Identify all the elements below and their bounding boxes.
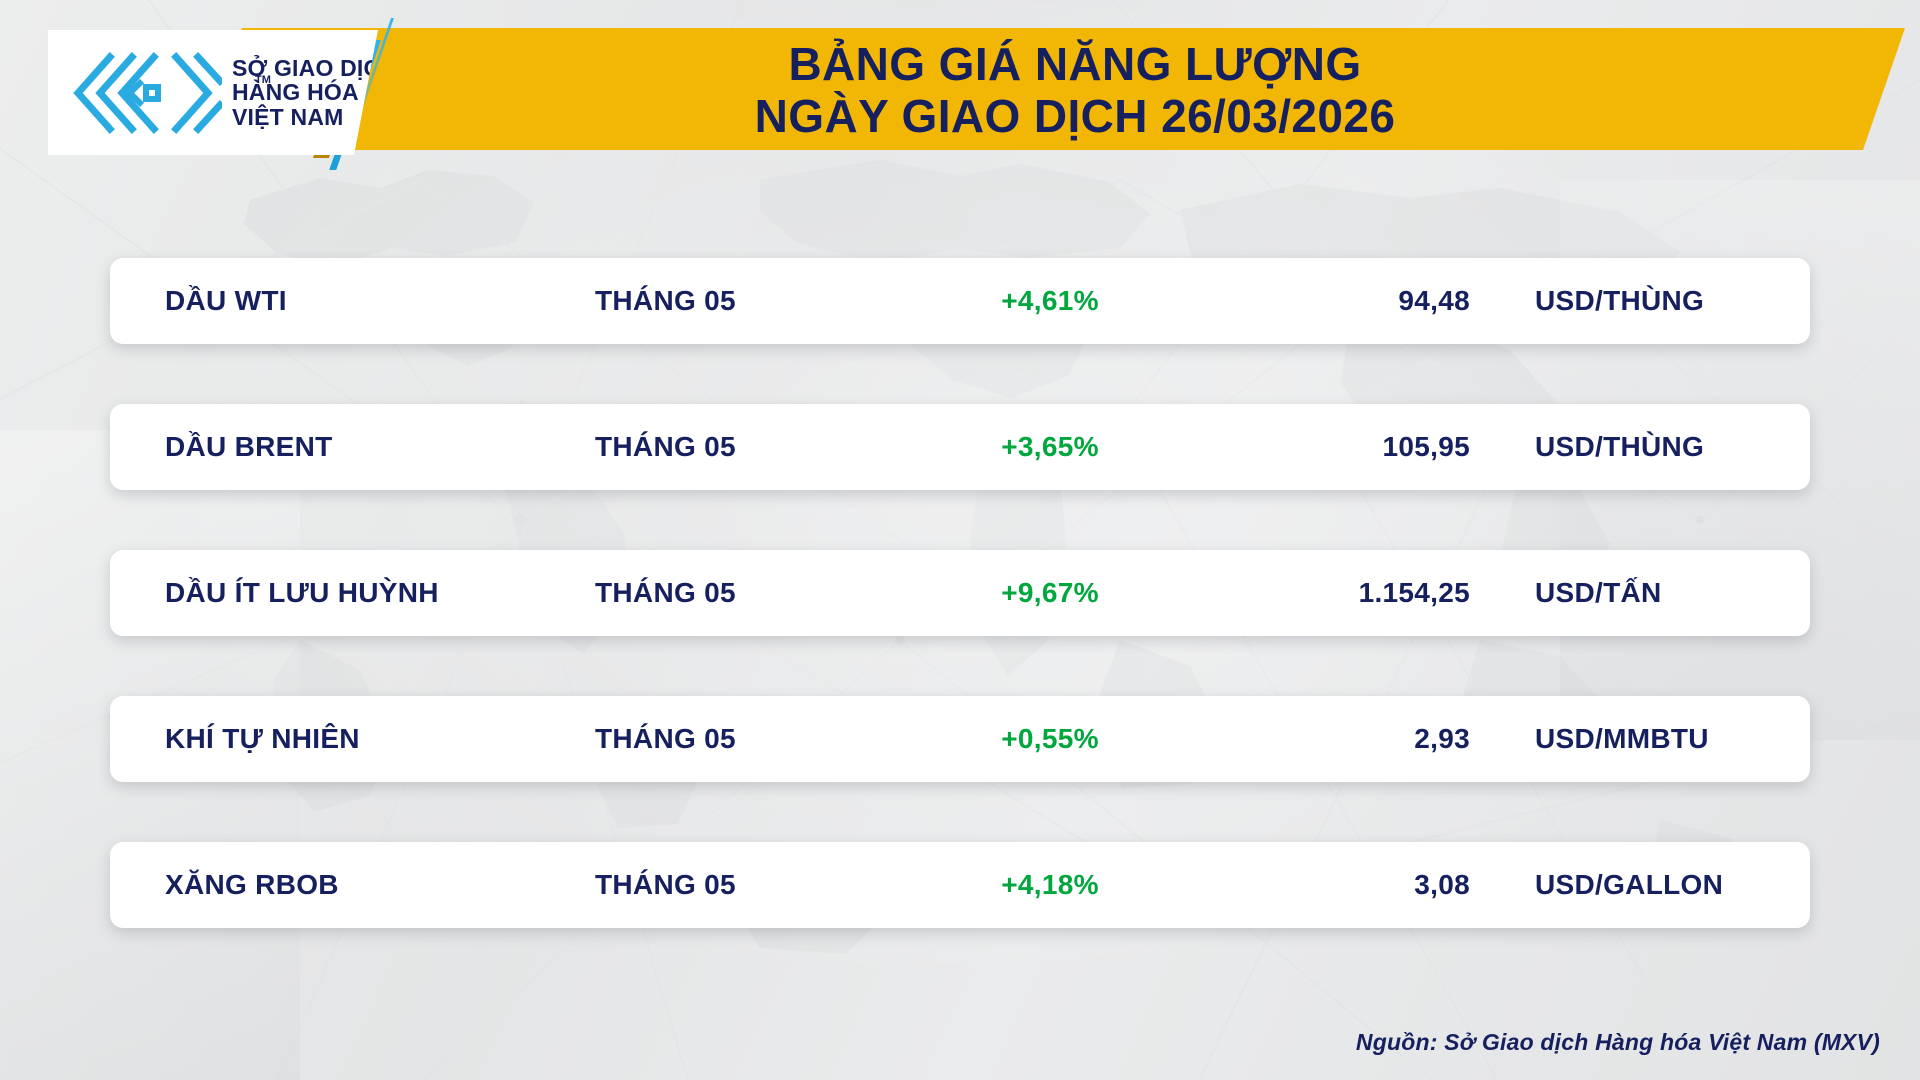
- mxv-maze-logo-icon: [70, 51, 222, 135]
- contract-month: THÁNG 05: [595, 285, 736, 317]
- table-row[interactable]: DẦU BRENT THÁNG 05 +3,65% 105,95 USD/THÙ…: [110, 404, 1810, 490]
- contract-month: THÁNG 05: [595, 723, 736, 755]
- price-unit: USD/GALLON: [1535, 869, 1723, 901]
- table-row[interactable]: XĂNG RBOB THÁNG 05 +4,18% 3,08 USD/GALLO…: [110, 842, 1810, 928]
- table-row[interactable]: DẦU WTI THÁNG 05 +4,61% 94,48 USD/THÙNG: [110, 258, 1810, 344]
- commodity-name: XĂNG RBOB: [165, 869, 339, 901]
- table-row[interactable]: KHÍ TỰ NHIÊN THÁNG 05 +0,55% 2,93 USD/MM…: [110, 696, 1810, 782]
- price-value: 3,08: [1190, 869, 1470, 901]
- contract-month: THÁNG 05: [595, 577, 736, 609]
- title-line-1: BẢNG GIÁ NĂNG LƯỢNG: [788, 39, 1361, 91]
- price-value: 1.154,25: [1190, 577, 1470, 609]
- price-table: DẦU WTI THÁNG 05 +4,61% 94,48 USD/THÙNG …: [110, 258, 1810, 988]
- price-unit: USD/THÙNG: [1535, 431, 1704, 463]
- commodity-name: DẦU ÍT LƯU HUỲNH: [165, 577, 439, 609]
- price-unit: USD/THÙNG: [1535, 285, 1704, 317]
- price-value: 2,93: [1190, 723, 1470, 755]
- page-title: BẢNG GIÁ NĂNG LƯỢNG NGÀY GIAO DỊCH 26/03…: [310, 30, 1840, 152]
- price-value: 105,95: [1190, 431, 1470, 463]
- price-value: 94,48: [1190, 285, 1470, 317]
- percent-change: +3,65%: [950, 431, 1150, 463]
- commodity-name: DẦU WTI: [165, 285, 287, 317]
- price-unit: USD/TẤN: [1535, 577, 1662, 609]
- commodity-name: KHÍ TỰ NHIÊN: [165, 723, 360, 755]
- page-header: SỞ GIAO DỊCH HÀNG HÓA VIỆT NAM TM BẢNG G…: [0, 0, 1920, 175]
- commodity-name: DẦU BRENT: [165, 431, 333, 463]
- contract-month: THÁNG 05: [595, 431, 736, 463]
- percent-change: +4,18%: [950, 869, 1150, 901]
- trademark-symbol: TM: [255, 74, 271, 86]
- source-note: Nguồn: Sở Giao dịch Hàng hóa Việt Nam (M…: [1356, 1029, 1880, 1056]
- percent-change: +4,61%: [950, 285, 1150, 317]
- percent-change: +0,55%: [950, 723, 1150, 755]
- table-row[interactable]: DẦU ÍT LƯU HUỲNH THÁNG 05 +9,67% 1.154,2…: [110, 550, 1810, 636]
- percent-change: +9,67%: [950, 577, 1150, 609]
- title-line-2: NGÀY GIAO DỊCH 26/03/2026: [755, 91, 1396, 143]
- contract-month: THÁNG 05: [595, 869, 736, 901]
- price-unit: USD/MMBTU: [1535, 723, 1709, 755]
